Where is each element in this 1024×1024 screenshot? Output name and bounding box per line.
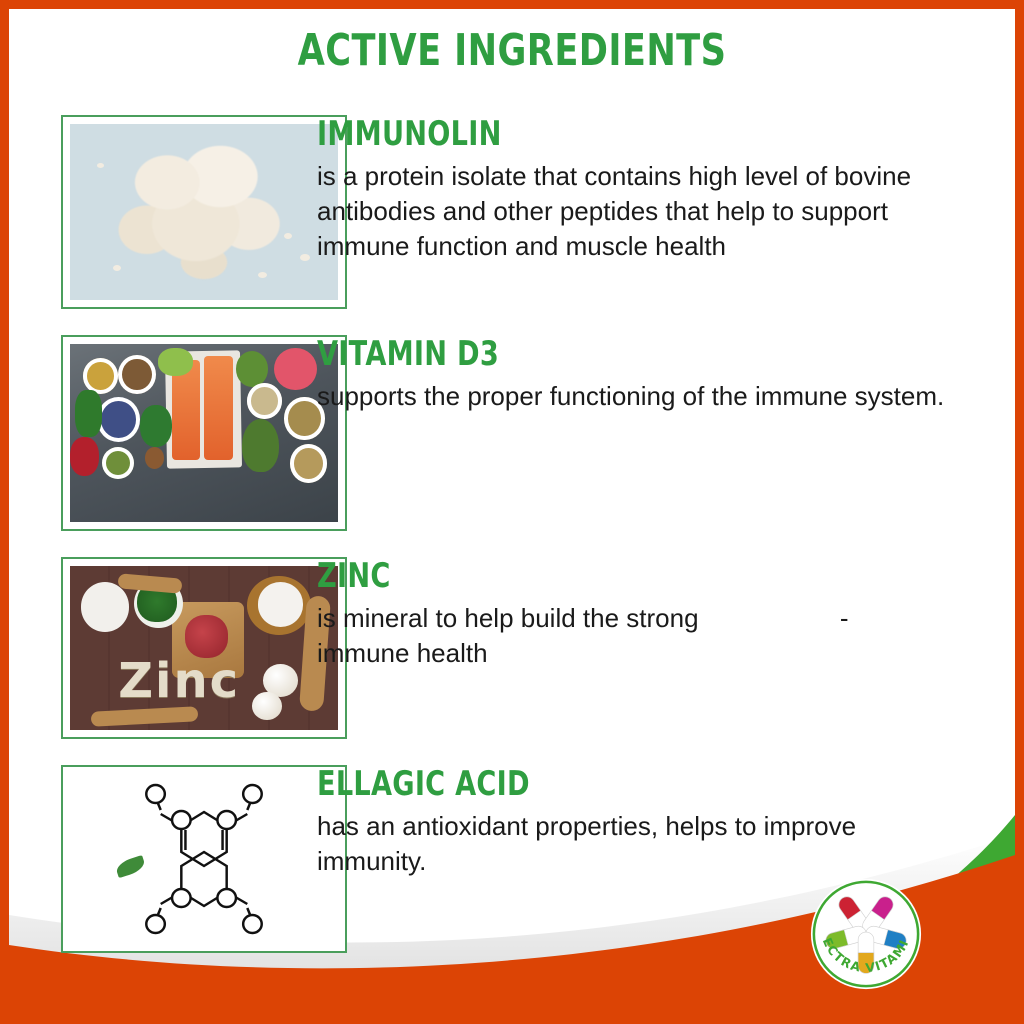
salmon-fillet-shape [204,356,233,459]
image-salmon-healthy-food [70,344,338,522]
ingredient-list: IMMUNOLIN is a protein isolate that cont… [9,115,1015,973]
cheese-chunks-shape [258,582,304,626]
thumbnail-wrap-zinc: Zinc [9,557,301,739]
leafy-green-shape [75,390,102,436]
ingredient-copy-ellagic-acid: ELLAGIC ACID has an antioxidant properti… [301,765,1015,879]
ingredient-name-zinc: ZINC [317,559,875,595]
grain-bowl-shape [290,444,328,483]
avocado-shape [242,419,280,472]
spice-bowl-shape [83,358,118,394]
wooden-spoon-shape [118,573,183,593]
zinc-word-graphic: Zinc [118,653,240,709]
ingredient-copy-vitamin-d3: VITAMIN D3 supports the proper functioni… [301,335,1015,414]
powder-heap-shape [102,138,306,286]
broccoli-shape [140,405,172,448]
image-protein-powder [70,124,338,300]
ingredient-name-vitamin-d3: VITAMIN D3 [317,337,875,373]
poster-canvas: ACTIVE INGREDIENTS IMMUNOLIN i [0,0,1024,1024]
thumbnail-wrap-immunolin [9,115,301,309]
brussels-sprout-shape [236,351,268,387]
ingredient-name-immunolin: IMMUNOLIN [317,117,875,153]
wooden-spoon-shape [91,706,199,726]
lettuce-shape [158,348,193,376]
zinc-dangling-hyphen: - [699,601,849,636]
thumbnail-wrap-ellagic-acid [9,765,301,953]
seed-bowl-shape [118,355,156,394]
ingredient-description-zinc: is mineral to help build the strong-immu… [317,601,957,671]
legume-bowl-shape [102,447,134,479]
image-ellagic-acid-molecule-berries [70,774,338,944]
almond-bowl-shape [81,582,129,631]
brand-logo-badge: SPECTRA VITAMINS [807,875,925,993]
ingredient-row-vitamin-d3: VITAMIN D3 supports the proper functioni… [9,335,1015,557]
garlic-bulb-shape [252,692,281,720]
image-zinc-foods: Zinc [70,566,338,730]
ingredient-description-vitamin-d3: supports the proper functioning of the i… [317,379,957,414]
zinc-desc-line-2: immune health [317,638,488,668]
ingredient-row-immunolin: IMMUNOLIN is a protein isolate that cont… [9,115,1015,335]
powder-speck [113,265,121,271]
ingredient-description-ellagic-acid: has an antioxidant properties, helps to … [317,809,957,879]
pomegranate-shape [70,437,99,476]
ingredient-name-ellagic-acid: ELLAGIC ACID [317,767,875,803]
molecule-diagram-icon [70,774,338,944]
ingredient-copy-immunolin: IMMUNOLIN is a protein isolate that cont… [301,115,1015,264]
ingredient-row-zinc: Zinc ZINC is mineral to help build the s… [9,557,1015,765]
blueberry-bowl-shape [97,397,140,442]
zinc-desc-line-1: is mineral to help build the strong [317,603,699,633]
ingredient-copy-zinc: ZINC is mineral to help build the strong… [301,557,1015,671]
powder-speck [258,272,267,278]
powder-speck [97,163,104,168]
hazelnut-shape [145,447,164,468]
thumbnail-wrap-vitamin-d3 [9,335,301,531]
ingredient-description-immunolin: is a protein isolate that contains high … [317,159,957,264]
page-title: ACTIVE INGREDIENTS [110,25,915,76]
seed-bowl-shape [247,383,282,419]
red-meat-shape [185,615,228,658]
